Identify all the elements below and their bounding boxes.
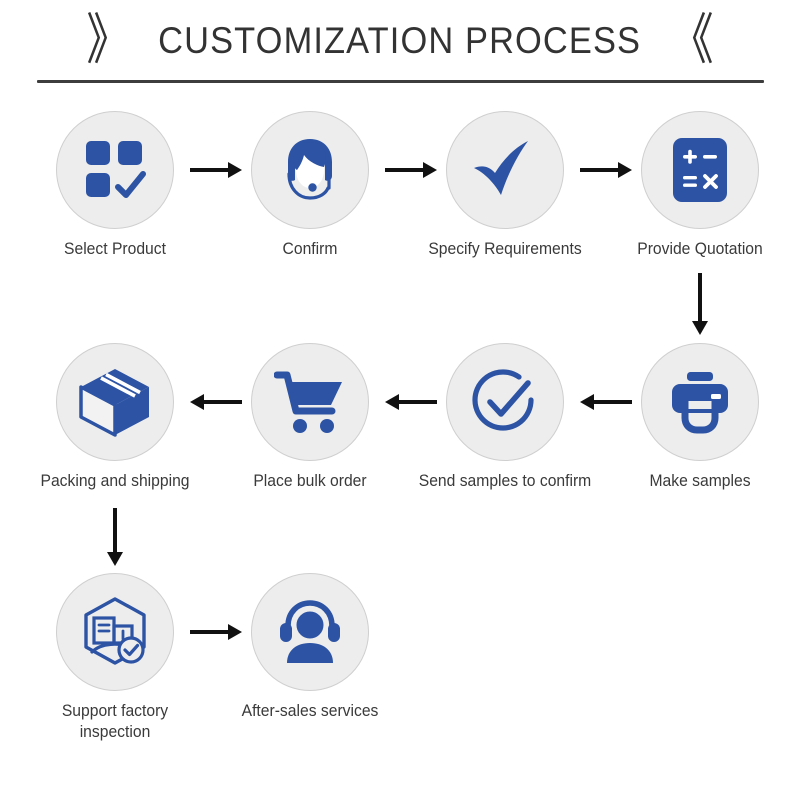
arrow-head (618, 162, 632, 178)
step-label: After-sales services (220, 701, 401, 722)
calculator-icon (669, 135, 731, 205)
arrow-head (107, 552, 123, 566)
step-after-sales-services[interactable]: After-sales services (215, 573, 405, 722)
arrow-shaft (113, 508, 117, 552)
step-icon-circle (56, 573, 174, 691)
step-label: Place bulk order (220, 471, 401, 492)
step-icon-circle (446, 111, 564, 229)
page-header: 》 CUSTOMIZATION PROCESS 《 (0, 0, 800, 83)
arrow-step8-step9 (108, 508, 122, 566)
arrow-shaft (698, 273, 702, 321)
step-place-bulk-order[interactable]: Place bulk order (215, 343, 405, 492)
arrow-shaft (399, 400, 437, 404)
checkmark-icon (470, 135, 540, 205)
arrow-step2-step3 (385, 163, 437, 177)
step-icon-circle (641, 111, 759, 229)
arrow-step3-step4 (580, 163, 632, 177)
step-label: Select Product (25, 239, 206, 260)
circle-check-icon (470, 367, 540, 437)
step-select-product[interactable]: Select Product (20, 111, 210, 260)
arrow-head (580, 394, 594, 410)
package-box-icon (79, 367, 151, 437)
step-support-factory-inspection[interactable]: Support factory inspection (20, 573, 210, 743)
step-provide-quotation[interactable]: Provide Quotation (605, 111, 795, 260)
printer-icon (665, 370, 735, 434)
arrow-shaft (594, 400, 632, 404)
step-label: Support factory inspection (25, 701, 206, 743)
arrow-step5-step6 (580, 395, 632, 409)
arrow-head (423, 162, 437, 178)
step-label: Send samples to confirm (415, 471, 596, 492)
grid-check-icon (82, 137, 148, 203)
arrow-step4-step5 (693, 273, 707, 335)
step-send-samples-to-confirm[interactable]: Send samples to confirm (410, 343, 600, 492)
step-icon-circle (251, 111, 369, 229)
arrow-head (228, 624, 242, 640)
step-label: Packing and shipping (25, 471, 206, 492)
step-icon-circle (251, 573, 369, 691)
page-title: CUSTOMIZATION PROCESS (159, 20, 642, 62)
arrow-shaft (385, 168, 423, 172)
step-label: Confirm (220, 239, 401, 260)
arrow-shaft (190, 630, 228, 634)
arrow-head (190, 394, 204, 410)
step-make-samples[interactable]: Make samples (605, 343, 795, 492)
arrow-step7-step8 (190, 395, 242, 409)
step-confirm[interactable]: Confirm (215, 111, 405, 260)
title-row: 》 CUSTOMIZATION PROCESS 《 (0, 12, 800, 70)
arrow-step9-step10 (190, 625, 242, 639)
arrow-shaft (580, 168, 618, 172)
shopping-cart-icon (274, 369, 346, 435)
arrow-head (385, 394, 399, 410)
headset-person-icon (275, 599, 345, 665)
step-icon-circle (56, 111, 174, 229)
step-specify-requirements[interactable]: Specify Requirements (410, 111, 600, 260)
step-label: Provide Quotation (610, 239, 791, 260)
step-icon-circle (56, 343, 174, 461)
left-chevron-icon: 》 (86, 14, 130, 69)
step-icon-circle (446, 343, 564, 461)
step-icon-circle (251, 343, 369, 461)
step-label: Specify Requirements (415, 239, 596, 260)
step-packing-and-shipping[interactable]: Packing and shipping (20, 343, 210, 492)
right-chevron-icon: 《 (670, 14, 714, 69)
arrow-step6-step7 (385, 395, 437, 409)
support-agent-icon (276, 136, 344, 204)
process-flow-board: Select Product Confirm Specify Requireme… (0, 83, 800, 783)
arrow-shaft (190, 168, 228, 172)
step-label: Make samples (610, 471, 791, 492)
step-icon-circle (641, 343, 759, 461)
arrow-shaft (204, 400, 242, 404)
factory-inspection-icon (79, 596, 151, 668)
arrow-head (692, 321, 708, 335)
arrow-head (228, 162, 242, 178)
arrow-step1-step2 (190, 163, 242, 177)
